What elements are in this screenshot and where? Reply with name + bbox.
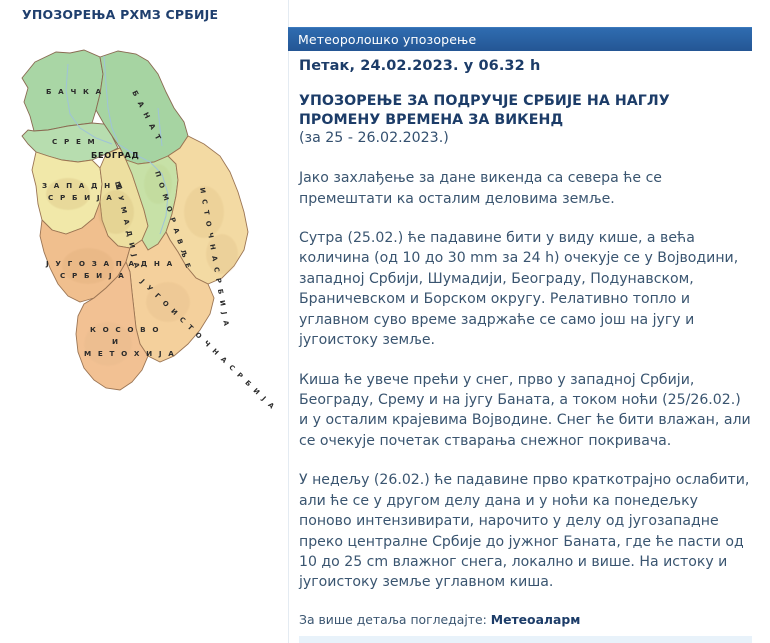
map-label-kosovo-1: К О С О В О: [90, 325, 161, 334]
warning-headline-subtitle: (за 25 - 26.02.2023.): [299, 129, 751, 148]
issued-timestamp: Петак, 24.02.2023. у 06.32 h: [299, 58, 751, 74]
map-label-beograd: БЕОГРАД: [91, 150, 140, 160]
map-label-jugozapadna-srbija-2: С Р Б И Ј А: [60, 271, 126, 280]
serbia-regions-map: Б А Ч К А Б А Н А Т С Р Е М БЕОГРАД З А …: [8, 44, 284, 434]
map-label-zapadna-srbija-1: З А П А Д Н А: [42, 181, 125, 190]
warning-paragraph-2: Сутра (25.02.) ће падавине бити у виду к…: [299, 228, 751, 351]
meteoalarm-link[interactable]: Метеоаларм: [491, 612, 581, 627]
map-label-zapadna-srbija-2: С Р Б И Ј А: [48, 193, 114, 202]
warning-header-label: Метеоролошко упозорење: [298, 32, 476, 47]
warning-headline-line1: УПОЗОРЕЊЕ ЗА ПОДРУЧЈЕ СРБИЈЕ НА НАГЛУ: [299, 92, 751, 111]
more-details-prefix: За више детаља погледајте:: [299, 612, 491, 627]
map-label-backa: Б А Ч К А: [46, 87, 103, 96]
panel-divider: [288, 0, 289, 643]
map-label-srem: С Р Е М: [52, 137, 97, 146]
more-details-line: За више детаља погледајте: Метеоаларм: [299, 612, 751, 627]
warning-paragraph-4: У недељу (26.02.) ће падавине прво кратк…: [299, 470, 751, 593]
left-column: УПОЗОРЕЊА РХМЗ СРБИЈЕ: [0, 0, 288, 643]
bottom-strip: [299, 636, 752, 643]
map-label-kosovo-2: И: [112, 337, 120, 346]
page-title: УПОЗОРЕЊА РХМЗ СРБИЈЕ: [22, 7, 218, 22]
warning-paragraph-1: Јако захлађење за дане викенда са севера…: [299, 168, 751, 209]
warning-header-bar: Метеоролошко упозорење: [288, 27, 752, 51]
warning-content: Петак, 24.02.2023. у 06.32 h УПОЗОРЕЊЕ З…: [299, 58, 751, 627]
map-label-jugozapadna-srbija-1: Ј У Г О З А П А Д Н А: [45, 259, 174, 268]
map-svg: Б А Ч К А Б А Н А Т С Р Е М БЕОГРАД З А …: [8, 44, 284, 434]
warning-headline-line2: ПРОМЕНУ ВРЕМЕНА ЗА ВИКЕНД: [299, 111, 751, 130]
warning-panel: Метеоролошко упозорење Петак, 24.02.2023…: [288, 0, 770, 643]
warning-paragraph-3: Киша ће увече прећи у снег, прво у запад…: [299, 370, 751, 452]
map-label-kosovo-3: М Е Т О Х И Ј А: [84, 349, 176, 358]
